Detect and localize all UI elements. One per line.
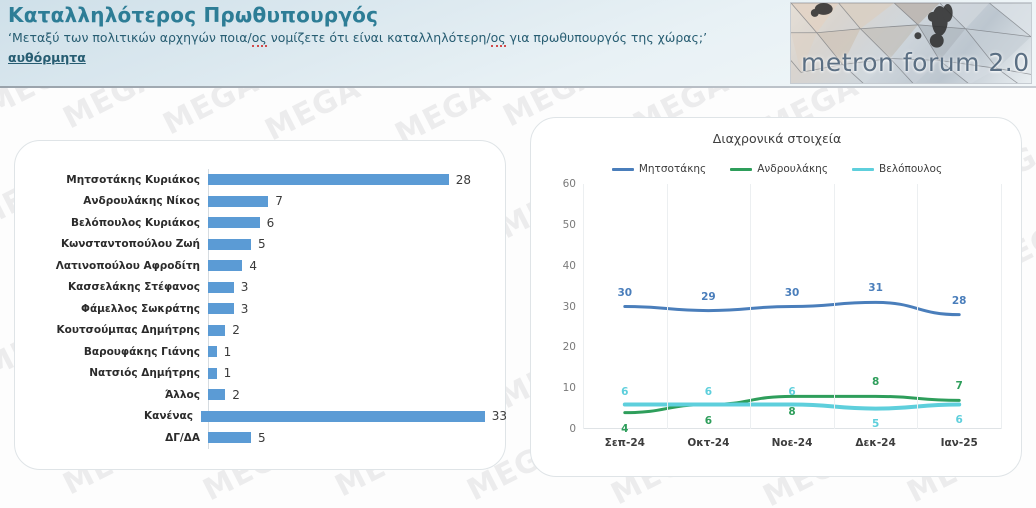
bar-category-label: Μητσοτάκης Κυριάκος <box>15 174 204 186</box>
bar-chart-row: ΔΓ/ΔΑ5 <box>15 427 507 449</box>
line-chart-card: Διαχρονικά στοιχεία ΜητσοτάκηςΑνδρουλάκη… <box>530 117 1022 477</box>
bar-fill <box>208 196 268 207</box>
bar-category-label: Κανένας <box>15 410 197 422</box>
y-axis-tick-label: 10 <box>563 382 576 394</box>
bar-fill <box>201 411 485 422</box>
x-axis-tick-label: Νοε-24 <box>772 437 813 449</box>
bar-value-label: 2 <box>232 324 240 336</box>
bar-chart-row: Κανένας33 <box>15 406 507 428</box>
line-chart-baseline <box>583 428 1001 429</box>
bar-chart-row: Μητσοτάκης Κυριάκος28 <box>15 169 507 191</box>
bar-fill <box>208 368 217 379</box>
bar-value-label: 3 <box>241 281 249 293</box>
bar-track: 1 <box>204 363 507 385</box>
bar-track: 7 <box>204 191 507 213</box>
slide-root: MEGA MEGA MEGA MEGA MEGA MEGA MEGA MEGA … <box>0 0 1036 508</box>
bar-category-label: Βαρουφάκης Γιάνης <box>15 346 204 358</box>
bar-value-label: 5 <box>258 432 266 444</box>
bar-track: 5 <box>204 427 507 449</box>
y-axis-tick-label: 0 <box>569 423 576 435</box>
spellcheck-word: ος <box>252 30 267 47</box>
grid-line-vertical <box>834 184 835 429</box>
data-point-label: 8 <box>788 406 795 418</box>
y-axis-tick-label: 40 <box>563 260 576 272</box>
line-chart-plot-area: 0102030405060Σεπ-24Οκτ-24Νοε-24Δεκ-24Ιαν… <box>583 184 1001 429</box>
bar-chart-row: Ανδρουλάκης Νίκος7 <box>15 191 507 213</box>
bar-value-label: 28 <box>456 174 471 186</box>
bar-fill <box>208 282 234 293</box>
data-point-label: 28 <box>952 295 967 307</box>
bar-category-label: Βελόπουλος Κυριάκος <box>15 217 204 229</box>
bar-fill <box>208 303 234 314</box>
logo-text: metron forum 2.0 <box>801 48 1030 77</box>
data-point-label: 6 <box>705 386 712 398</box>
metron-forum-logo: metron forum 2.0 <box>790 2 1032 84</box>
question-part-2: νομίζετε ότι είναι καταλληλότερη/ <box>267 30 491 45</box>
bar-track: 3 <box>204 298 507 320</box>
legend-label: Ανδρουλάκης <box>757 163 828 175</box>
question-part-1: ‘Μεταξύ των πολιτικών αρχηγών ποια/ <box>8 30 252 45</box>
grid-line-vertical <box>750 184 751 429</box>
legend-swatch-icon <box>852 168 874 171</box>
bar-chart: Μητσοτάκης Κυριάκος28Ανδρουλάκης Νίκος7Β… <box>15 141 507 471</box>
legend-item[interactable]: Ανδρουλάκης <box>730 163 828 175</box>
legend-item[interactable]: Μητσοτάκης <box>612 163 706 175</box>
y-axis-tick-label: 30 <box>563 301 576 313</box>
data-point-label: 6 <box>621 386 628 398</box>
x-axis-tick-label: Δεκ-24 <box>855 437 895 449</box>
bar-chart-row: Λατινοπούλου Αφροδίτη4 <box>15 255 507 277</box>
data-point-label: 6 <box>956 414 963 426</box>
question-text: ‘Μεταξύ των πολιτικών αρχηγών ποια/ος νο… <box>8 28 707 47</box>
data-point-label: 6 <box>705 415 712 427</box>
bar-fill <box>208 217 260 228</box>
data-point-label: 31 <box>868 282 883 294</box>
y-axis-tick-label: 50 <box>563 219 576 231</box>
bar-category-label: Κασσελάκης Στέφανος <box>15 281 204 293</box>
y-axis-tick-label: 60 <box>563 178 576 190</box>
bar-track: 4 <box>204 255 507 277</box>
bar-chart-row: Βελόπουλος Κυριάκος6 <box>15 212 507 234</box>
bar-chart-card: Μητσοτάκης Κυριάκος28Ανδρουλάκης Νίκος7Β… <box>14 140 506 470</box>
spontaneous-note: αυθόρμητα <box>8 49 86 67</box>
bar-track: 5 <box>204 234 507 256</box>
bar-value-label: 2 <box>232 389 240 401</box>
legend-swatch-icon <box>612 168 634 171</box>
data-point-label: 8 <box>872 376 879 388</box>
legend-label: Μητσοτάκης <box>639 163 706 175</box>
question-part-3: για πρωθυπουργός της χώρας;’ <box>506 30 707 45</box>
data-point-label: 29 <box>701 291 716 303</box>
x-axis-tick-label: Σεπ-24 <box>605 437 645 449</box>
bar-chart-row: Βαρουφάκης Γιάνης1 <box>15 341 507 363</box>
bar-value-label: 7 <box>275 195 283 207</box>
bar-chart-row: Φάμελλος Σωκράτης3 <box>15 298 507 320</box>
bar-category-label: Νατσιός Δημήτρης <box>15 367 204 379</box>
bar-fill <box>208 239 251 250</box>
bar-track: 28 <box>204 169 507 191</box>
bar-category-label: ΔΓ/ΔΑ <box>15 432 204 444</box>
bar-fill <box>208 346 217 357</box>
bar-value-label: 33 <box>492 410 507 422</box>
bar-category-label: Άλλος <box>15 389 204 401</box>
bar-fill <box>208 260 242 271</box>
bar-chart-row: Νατσιός Δημήτρης1 <box>15 363 507 385</box>
header-text-block: Καταλληλότερος Πρωθυπουργός ‘Μεταξύ των … <box>8 2 707 67</box>
bar-chart-row: Άλλος2 <box>15 384 507 406</box>
bar-value-label: 4 <box>249 260 257 272</box>
page-title: Καταλληλότερος Πρωθυπουργός <box>8 2 707 28</box>
data-point-label: 6 <box>788 386 795 398</box>
line-chart-legend: ΜητσοτάκηςΑνδρουλάκηςΒελόπουλος <box>531 163 1023 175</box>
bar-value-label: 1 <box>224 346 232 358</box>
bar-track: 6 <box>204 212 507 234</box>
header-divider <box>0 86 1036 88</box>
x-axis-tick-label: Οκτ-24 <box>687 437 729 449</box>
legend-item[interactable]: Βελόπουλος <box>852 163 942 175</box>
spellcheck-word: ος <box>491 30 506 47</box>
grid-line-vertical <box>667 184 668 429</box>
y-axis-tick-label: 20 <box>563 341 576 353</box>
bar-value-label: 5 <box>258 238 266 250</box>
data-point-label: 30 <box>617 287 632 299</box>
line-chart-title: Διαχρονικά στοιχεία <box>531 131 1023 146</box>
data-point-label: 4 <box>621 423 628 435</box>
data-point-label: 5 <box>872 418 879 430</box>
data-point-label: 30 <box>785 287 800 299</box>
bar-value-label: 1 <box>224 367 232 379</box>
bar-chart-row: Κασσελάκης Στέφανος3 <box>15 277 507 299</box>
bar-track: 2 <box>204 320 507 342</box>
data-point-label: 7 <box>956 380 963 392</box>
line-chart: Διαχρονικά στοιχεία ΜητσοτάκηςΑνδρουλάκη… <box>531 118 1023 478</box>
legend-label: Βελόπουλος <box>879 163 942 175</box>
bar-category-label: Κωνσταντοπούλου Ζωή <box>15 238 204 250</box>
bar-fill <box>208 432 251 443</box>
grid-line-vertical <box>1001 184 1002 429</box>
bar-category-label: Λατινοπούλου Αφροδίτη <box>15 260 204 272</box>
line-series-path <box>625 302 959 314</box>
legend-swatch-icon <box>730 168 752 171</box>
bar-track: 1 <box>204 341 507 363</box>
bar-value-label: 3 <box>241 303 249 315</box>
bar-category-label: Ανδρουλάκης Νίκος <box>15 195 204 207</box>
bar-category-label: Κουτσούμπας Δημήτρης <box>15 324 204 336</box>
bar-fill <box>208 325 225 336</box>
bar-chart-row: Κωνσταντοπούλου Ζωή5 <box>15 234 507 256</box>
grid-line-vertical <box>917 184 918 429</box>
bar-track: 33 <box>197 406 507 428</box>
grid-line-vertical <box>583 184 584 429</box>
bar-fill <box>208 174 449 185</box>
bar-fill <box>208 389 225 400</box>
x-axis-tick-label: Ιαν-25 <box>941 437 978 449</box>
bar-value-label: 6 <box>267 217 275 229</box>
bar-track: 2 <box>204 384 507 406</box>
bar-chart-row: Κουτσούμπας Δημήτρης2 <box>15 320 507 342</box>
bar-track: 3 <box>204 277 507 299</box>
bar-category-label: Φάμελλος Σωκράτης <box>15 303 204 315</box>
